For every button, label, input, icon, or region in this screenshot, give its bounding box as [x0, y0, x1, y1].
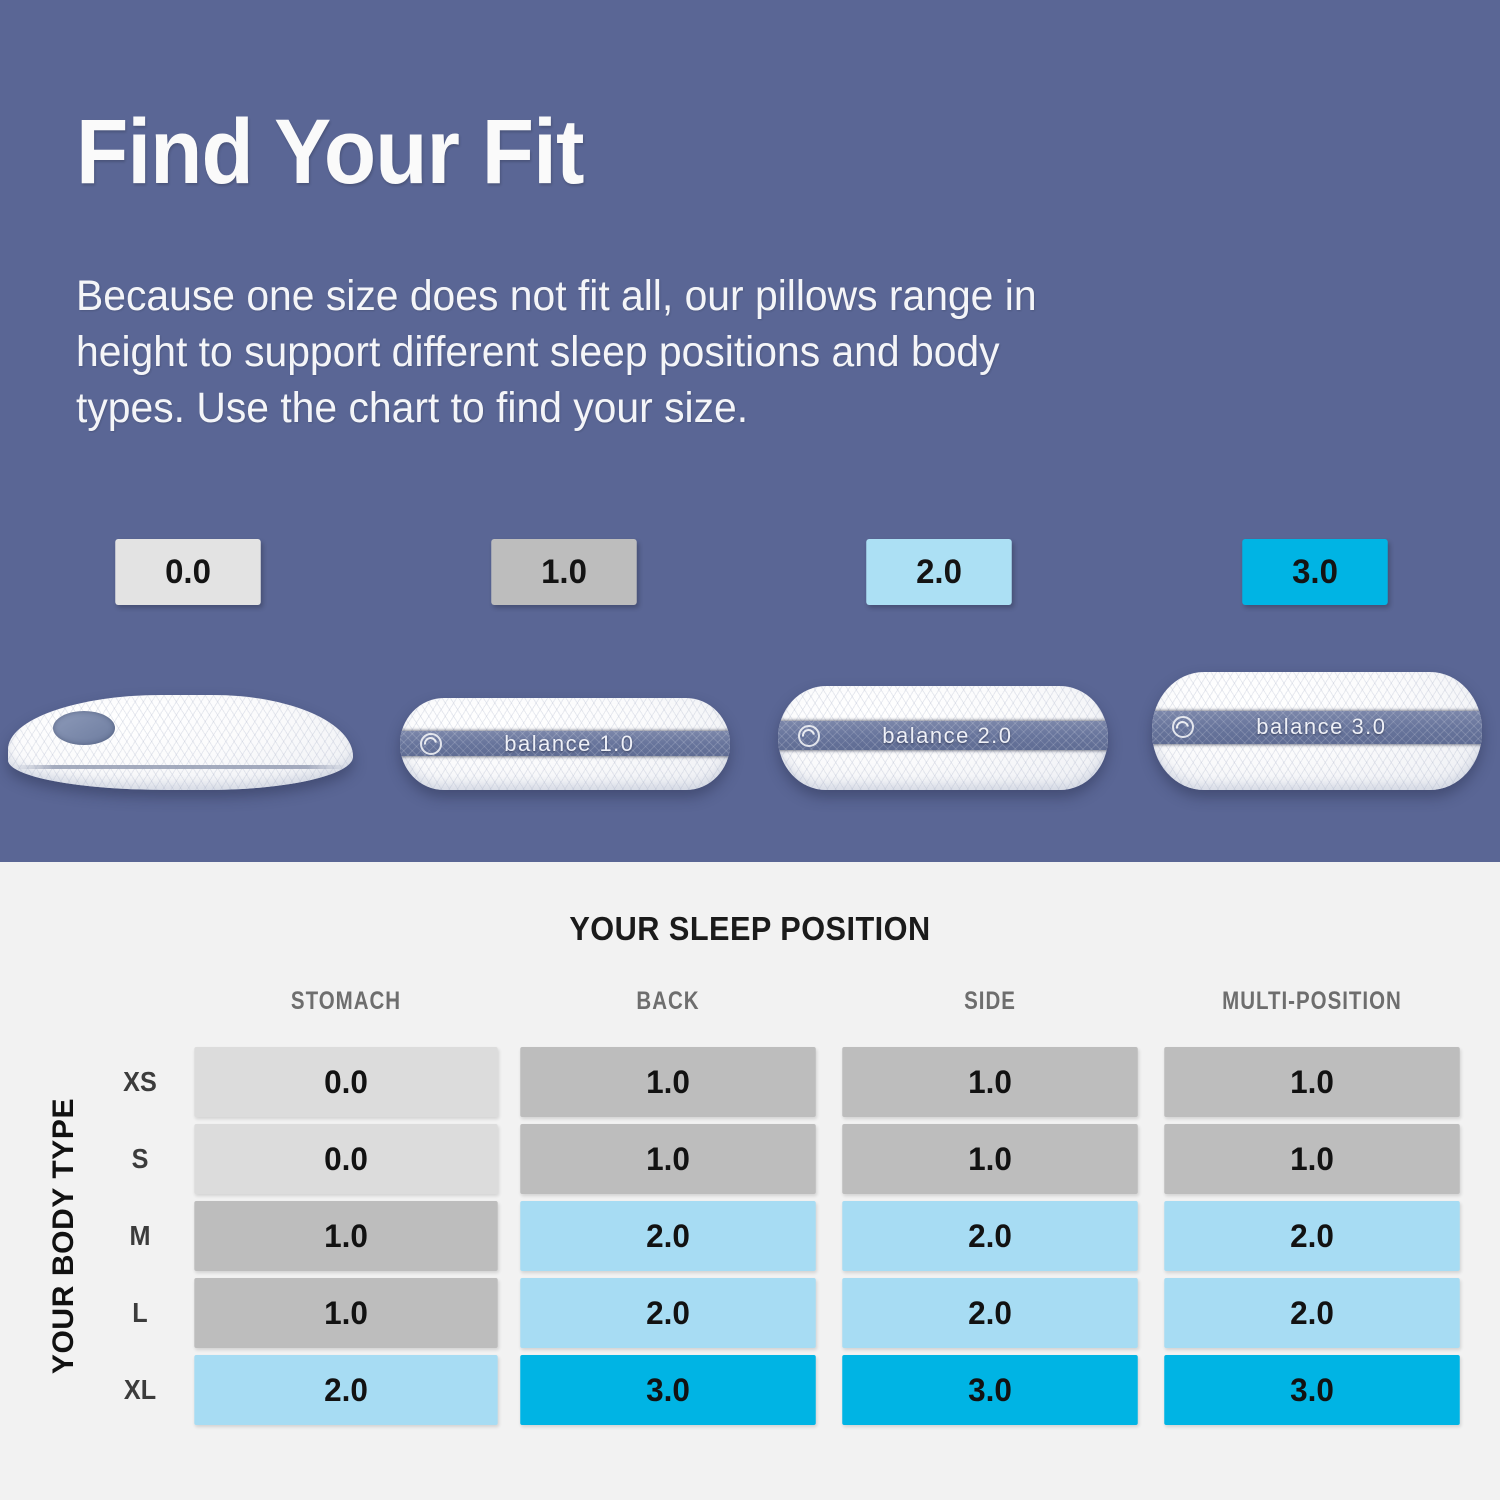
table-column-headers: STOMACH BACK SIDE MULTI-POSITION [0, 987, 1500, 1021]
pillow-body-3: balance 3.0 [1152, 672, 1482, 790]
cell-xs-back[interactable]: 1.0 [520, 1047, 816, 1117]
spiral-logo-icon [798, 725, 820, 747]
fit-chart-grid: XS 0.0 1.0 1.0 1.0 S 0.0 1.0 1.0 1.0 M 1… [0, 1047, 1500, 1427]
column-header-stomach: STOMACH [220, 987, 473, 1016]
spiral-logo-icon [420, 733, 442, 755]
pillow-body-0 [8, 695, 353, 790]
legend-chip-2[interactable]: 2.0 [866, 539, 1012, 605]
pillow-gusset-1: balance 1.0 [400, 731, 730, 756]
table-row: XS 0.0 1.0 1.0 1.0 [0, 1047, 1500, 1117]
column-header-side: SIDE [867, 987, 1113, 1016]
spiral-logo-icon [1172, 716, 1194, 738]
column-header-back: BACK [545, 987, 791, 1016]
row-label-l: L [104, 1278, 176, 1348]
pillow-body-1: balance 1.0 [400, 698, 730, 790]
cell-s-side[interactable]: 1.0 [842, 1124, 1138, 1194]
table-row: M 1.0 2.0 2.0 2.0 [0, 1201, 1500, 1271]
cell-xl-stomach[interactable]: 2.0 [194, 1355, 497, 1425]
cell-m-multi-position[interactable]: 2.0 [1164, 1201, 1460, 1271]
legend-chip-1[interactable]: 1.0 [491, 539, 637, 605]
table-row: L 1.0 2.0 2.0 2.0 [0, 1278, 1500, 1348]
pillow-seam [15, 765, 346, 769]
cell-xs-stomach[interactable]: 0.0 [194, 1047, 497, 1117]
cell-m-side[interactable]: 2.0 [842, 1201, 1138, 1271]
row-label-m: M [104, 1201, 176, 1271]
cell-xl-side[interactable]: 3.0 [842, 1355, 1138, 1425]
pillow-gallery: balance 1.0 balance 2.0 balance 3.0 [0, 640, 1500, 810]
cell-m-stomach[interactable]: 1.0 [194, 1201, 497, 1271]
cell-s-back[interactable]: 1.0 [520, 1124, 816, 1194]
column-header-multi-position: MULTI-POSITION [1189, 987, 1435, 1016]
row-label-xs: XS [104, 1047, 176, 1117]
pillow-image-2: balance 2.0 [778, 640, 1108, 800]
table-title: YOUR SLEEP POSITION [53, 910, 1448, 948]
pillow-image-1: balance 1.0 [400, 640, 730, 800]
pillow-image-3: balance 3.0 [1152, 640, 1482, 800]
pillow-gusset-2: balance 2.0 [778, 721, 1108, 750]
cell-xs-side[interactable]: 1.0 [842, 1047, 1138, 1117]
hero-section: Find Your Fit Because one size does not … [0, 0, 1500, 862]
cell-l-back[interactable]: 2.0 [520, 1278, 816, 1348]
pillow-image-0 [8, 640, 353, 800]
cell-l-stomach[interactable]: 1.0 [194, 1278, 497, 1348]
row-label-xl: XL [104, 1355, 176, 1425]
pillow-body-2: balance 2.0 [778, 686, 1108, 790]
legend-chip-3[interactable]: 3.0 [1242, 539, 1388, 605]
cell-s-multi-position[interactable]: 1.0 [1164, 1124, 1460, 1194]
table-row: S 0.0 1.0 1.0 1.0 [0, 1124, 1500, 1194]
cell-s-stomach[interactable]: 0.0 [194, 1124, 497, 1194]
hero-description: Because one size does not fit all, our p… [76, 268, 1093, 436]
cell-l-multi-position[interactable]: 2.0 [1164, 1278, 1460, 1348]
cell-xs-multi-position[interactable]: 1.0 [1164, 1047, 1460, 1117]
find-your-fit-infographic: Find Your Fit Because one size does not … [0, 0, 1500, 1500]
size-legend: 0.0 1.0 2.0 3.0 [0, 539, 1500, 607]
cell-m-back[interactable]: 2.0 [520, 1201, 816, 1271]
pillow-gusset-3: balance 3.0 [1152, 711, 1482, 744]
cell-l-side[interactable]: 2.0 [842, 1278, 1138, 1348]
table-row: XL 2.0 3.0 3.0 3.0 [0, 1355, 1500, 1425]
cell-xl-multi-position[interactable]: 3.0 [1164, 1355, 1460, 1425]
pillow-label-2: balance 2.0 [820, 723, 1075, 749]
cell-xl-back[interactable]: 3.0 [520, 1355, 816, 1425]
page-title: Find Your Fit [76, 104, 584, 201]
row-label-s: S [104, 1124, 176, 1194]
pillow-label-3: balance 3.0 [1194, 714, 1449, 740]
legend-chip-0[interactable]: 0.0 [115, 539, 261, 605]
spiral-logo-icon [53, 711, 115, 745]
pillow-label-1: balance 1.0 [442, 731, 697, 757]
